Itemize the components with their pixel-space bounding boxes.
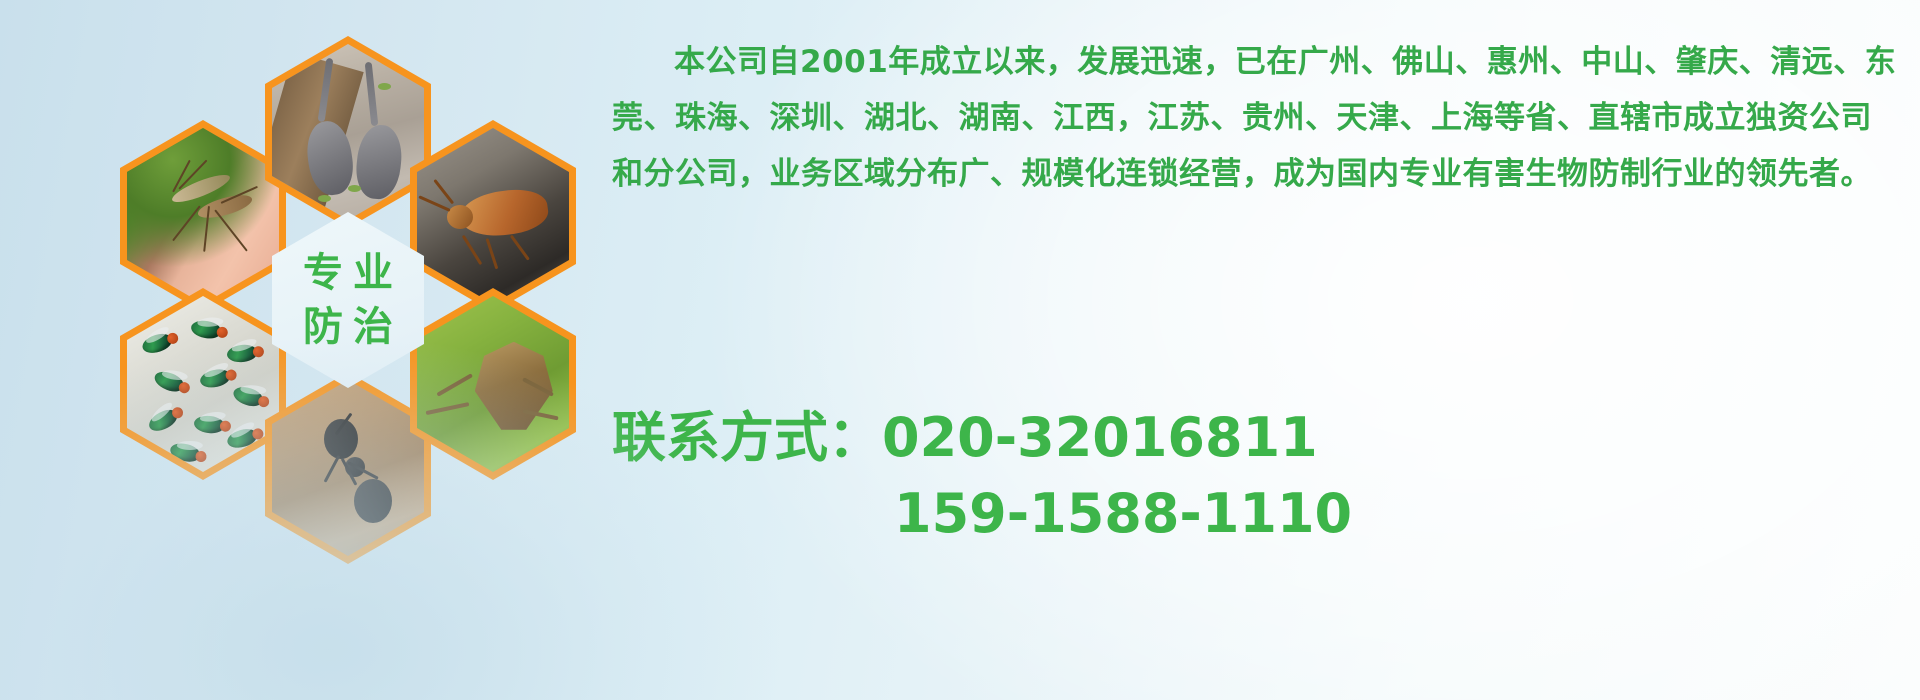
hex-cell-fly — [120, 288, 286, 480]
stink-bug-photo-icon — [417, 296, 569, 472]
hex-photo-ant — [272, 380, 424, 556]
hex-cell-cockroach — [410, 120, 576, 312]
hex-photo-stink-bug — [417, 296, 569, 472]
fly-photo-icon — [127, 296, 279, 472]
hex-photo-mosquito — [127, 128, 279, 304]
promo-banner: 专业 防治 本公司自2001年成立以来，发展迅速，已在广州、佛山、惠州、中山、肇… — [0, 0, 1920, 700]
hex-cell-rat — [265, 36, 431, 228]
mosquito-photo-icon — [127, 128, 279, 304]
contact-block: 联系方式：020-32016811 159-1588-1110 — [612, 400, 1902, 552]
honeycomb-label-line1: 专业 — [293, 253, 403, 293]
contact-line-secondary[interactable]: 159-1588-1110 — [612, 476, 1902, 552]
ant-photo-icon — [272, 380, 424, 556]
honeycomb-label: 专业 防治 — [265, 204, 431, 396]
honeycomb-collage: 专业 防治 — [100, 8, 600, 568]
company-description: 本公司自2001年成立以来，发展迅速，已在广州、佛山、惠州、中山、肇庆、清远、东… — [612, 34, 1902, 202]
hex-cell-stink-bug — [410, 288, 576, 480]
honeycomb-label-line2: 防治 — [293, 307, 403, 347]
hex-photo-fly — [127, 296, 279, 472]
hex-cell-mosquito — [120, 120, 286, 312]
hex-cell-ant — [265, 372, 431, 564]
company-description-paragraph: 本公司自2001年成立以来，发展迅速，已在广州、佛山、惠州、中山、肇庆、清远、东… — [612, 34, 1902, 202]
cockroach-photo-icon — [417, 128, 569, 304]
contact-line-primary[interactable]: 联系方式：020-32016811 — [612, 400, 1902, 476]
rat-photo-icon — [272, 44, 424, 220]
hex-photo-rat — [272, 44, 424, 220]
hex-photo-cockroach — [417, 128, 569, 304]
